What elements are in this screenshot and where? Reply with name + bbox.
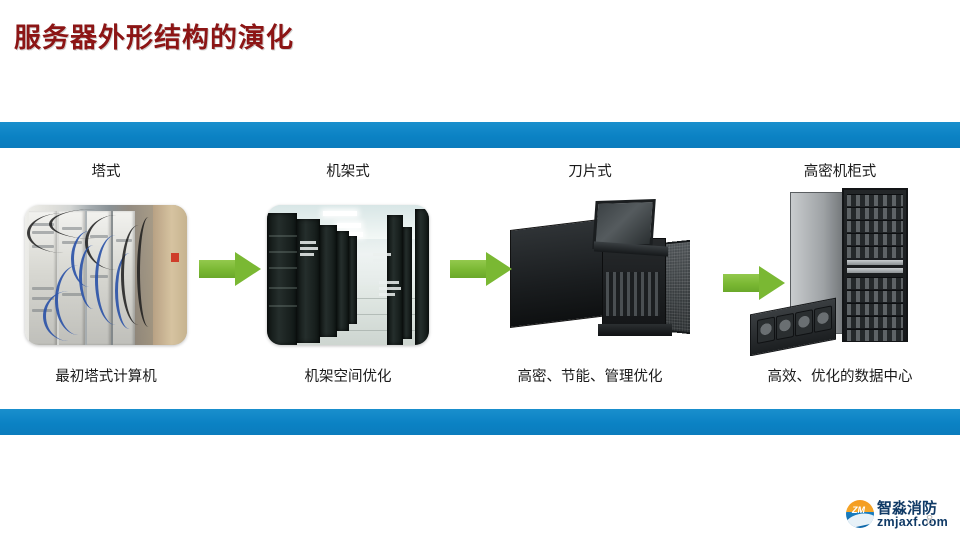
page-number: 8 [926, 512, 933, 527]
stage-label-rack: 机架式 [248, 160, 448, 181]
stage-label-tower: 塔式 [6, 160, 206, 181]
rack-datacenter-photo [267, 205, 429, 345]
page-title: 服务器外形结构的演化 [14, 16, 294, 55]
stage-tower: 塔式 [6, 160, 206, 400]
top-accent-bar [0, 122, 960, 148]
evolution-arrow-3-icon [723, 266, 785, 300]
tower-servers-photo [25, 205, 187, 345]
bottom-accent-bar [0, 409, 960, 435]
stage-rack: 机架式 [248, 160, 448, 400]
logo-website: zmjaxf.com [877, 515, 948, 529]
evolution-arrow-1-icon [199, 252, 261, 286]
blade-chassis-photo [498, 198, 690, 348]
slide: 服务器外形结构的演化 塔式 [0, 0, 960, 540]
stage-caption-high-density: 高效、优化的数据中心 [740, 365, 940, 386]
logo-emblem-icon: ZM [846, 500, 874, 528]
evolution-arrow-2-icon [450, 252, 512, 286]
stage-blade: 刀片式 高密、节能、管理优化 [490, 160, 690, 400]
logo-mark-text: ZM [852, 505, 865, 515]
stage-caption-blade: 高密、节能、管理优化 [490, 365, 690, 386]
watermark-logo: ZM 智淼消防 zmjaxf.com [846, 496, 954, 534]
stage-label-blade: 刀片式 [490, 160, 690, 181]
stage-label-high-density: 高密机柜式 [740, 160, 940, 181]
stage-caption-rack: 机架空间优化 [248, 365, 448, 386]
stage-caption-tower: 最初塔式计算机 [6, 365, 206, 386]
